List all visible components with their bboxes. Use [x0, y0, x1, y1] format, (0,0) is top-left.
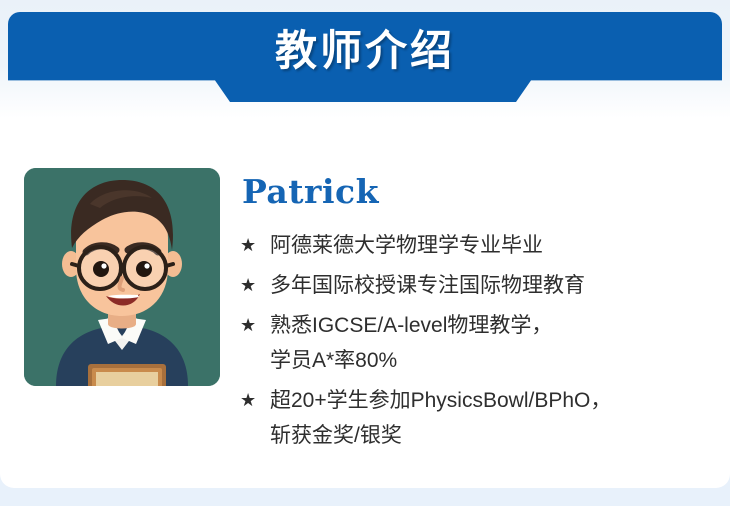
list-item-line-1: 熟悉IGCSE/A-level物理教学，	[270, 314, 552, 337]
list-item-line-2: 学员A*率80%	[270, 343, 710, 378]
page-title: 教师介绍	[8, 26, 722, 76]
star-icon: ★	[240, 383, 256, 418]
list-item-line-1: 多年国际校授课专注国际物理教育	[270, 274, 585, 297]
teacher-intro-page: 教师介绍	[0, 0, 730, 506]
list-item-line-1: 阿德莱德大学物理学专业毕业	[270, 234, 543, 257]
list-item-line-1: 超20+学生参加PhysicsBowl/BPhO，	[270, 389, 611, 412]
list-item: ★ 多年国际校授课专注国际物理教育	[240, 268, 710, 303]
list-item-line-2: 斩获金奖/银奖	[270, 418, 710, 453]
qualification-list: ★ 阿德莱德大学物理学专业毕业 ★ 多年国际校授课专注国际物理教育 ★ 熟悉IG…	[240, 228, 710, 453]
teacher-profile: Patrick ★ 阿德莱德大学物理学专业毕业 ★ 多年国际校授课专注国际物理教…	[0, 150, 730, 480]
avatar-illustration	[24, 168, 220, 386]
star-icon: ★	[240, 268, 256, 303]
star-icon: ★	[240, 228, 256, 263]
avatar	[24, 168, 220, 386]
list-item: ★ 超20+学生参加PhysicsBowl/BPhO， 斩获金奖/银奖	[240, 383, 710, 453]
content-card: 教师介绍	[0, 0, 730, 488]
page-bottom-strip	[0, 488, 730, 506]
star-icon: ★	[240, 308, 256, 343]
teacher-name: Patrick	[242, 172, 710, 212]
list-item: ★ 阿德莱德大学物理学专业毕业	[240, 228, 710, 263]
list-item: ★ 熟悉IGCSE/A-level物理教学， 学员A*率80%	[240, 308, 710, 378]
teacher-details: Patrick ★ 阿德莱德大学物理学专业毕业 ★ 多年国际校授课专注国际物理教…	[240, 172, 710, 458]
